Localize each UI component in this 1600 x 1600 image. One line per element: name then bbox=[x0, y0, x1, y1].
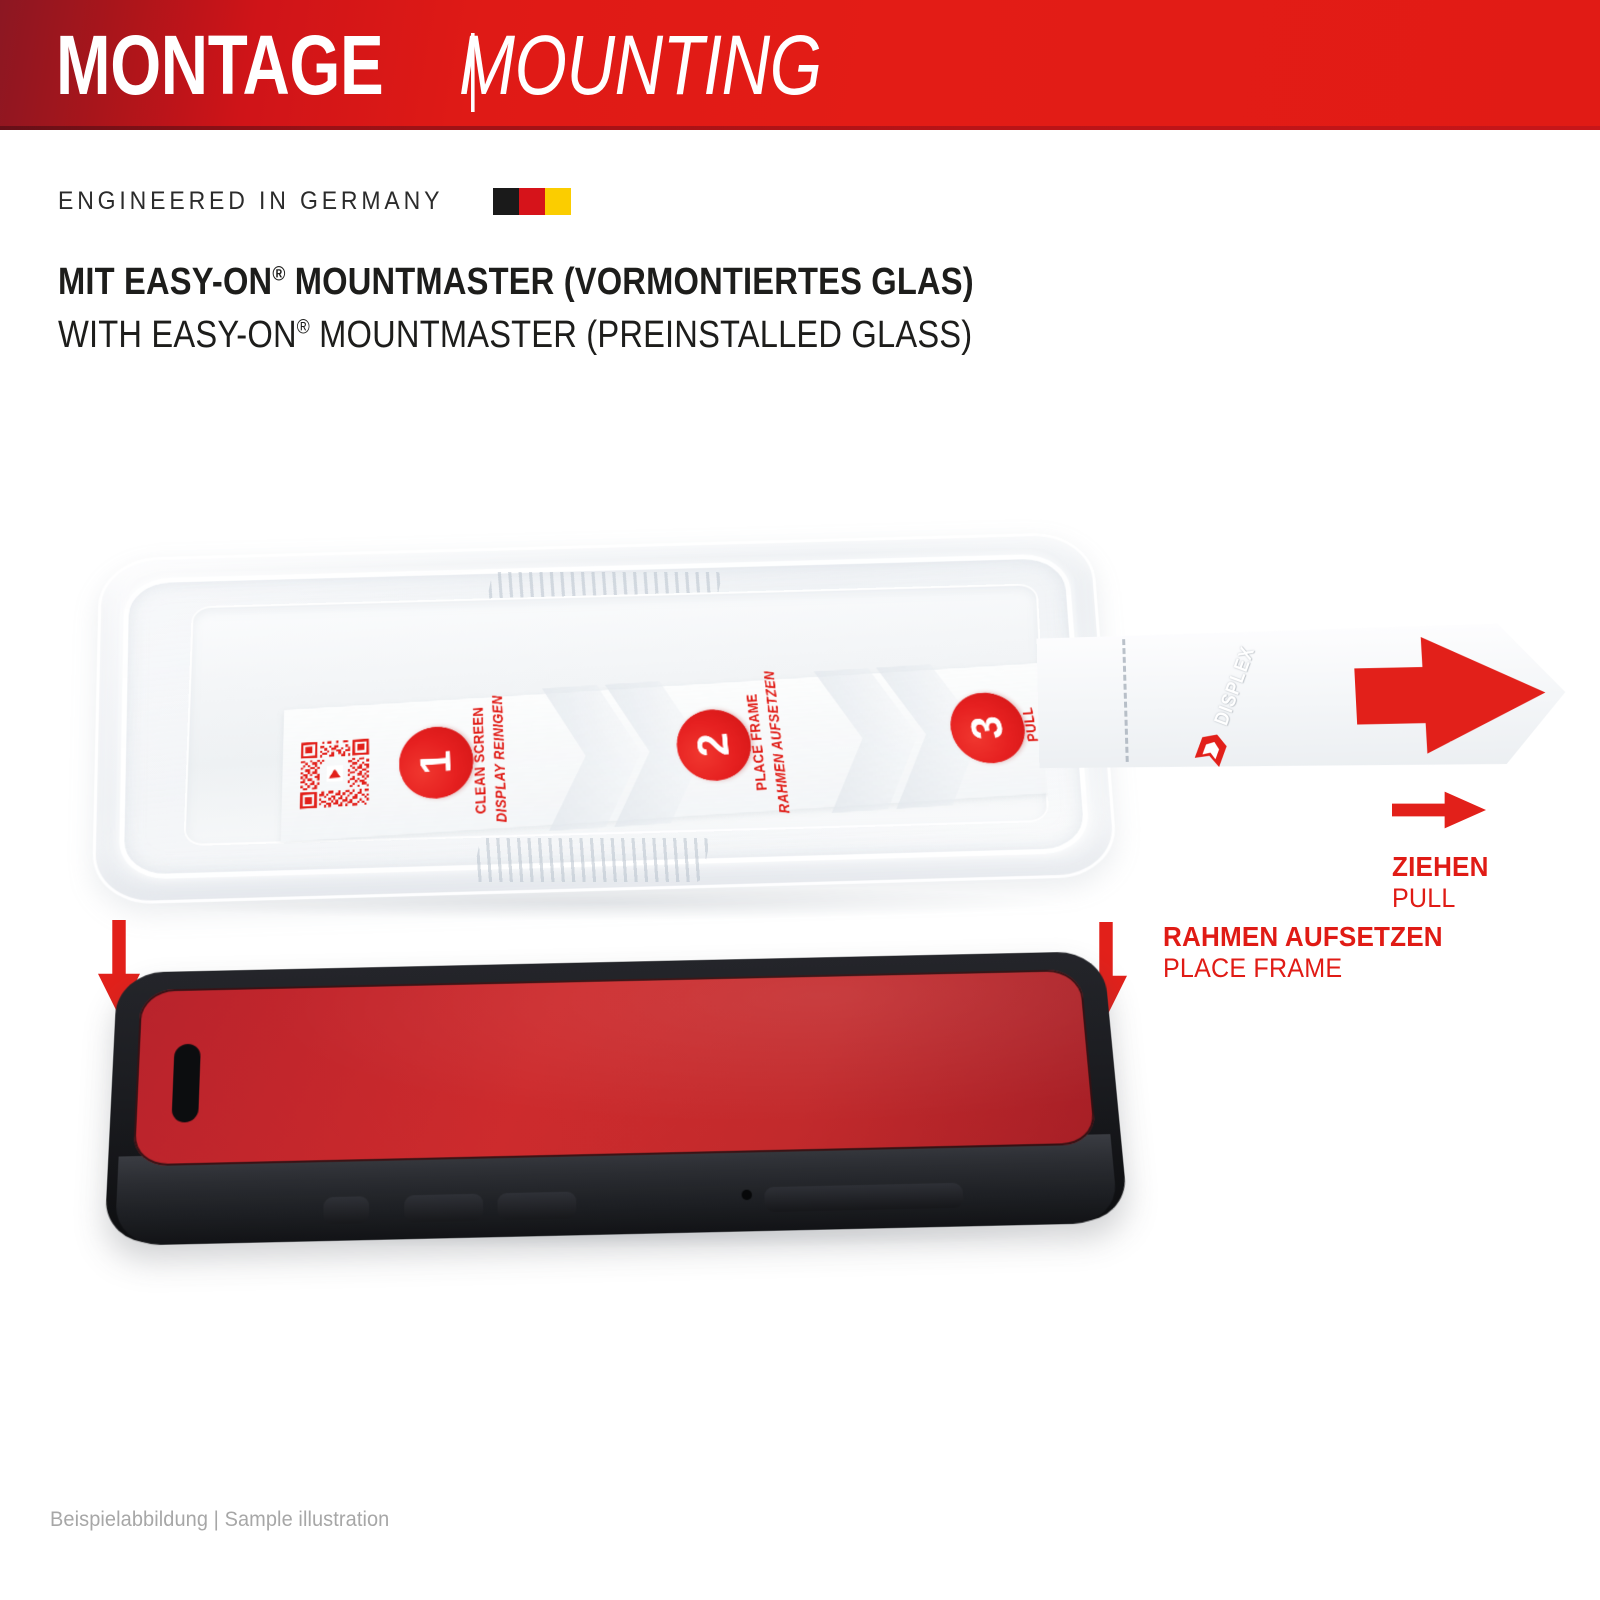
callout-pull-text: ZIEHEN PULL bbox=[1392, 850, 1496, 915]
callout-pull: ZIEHEN PULL bbox=[1392, 790, 1496, 915]
tray-glass-window: 1 CLEAN SCREEN DISPLAY REINIGEN 2 PLACE … bbox=[183, 583, 1049, 846]
qr-code-icon[interactable] bbox=[300, 739, 369, 809]
step-2-labels: PLACE FRAME RAHMEN AUFSETZEN bbox=[747, 731, 788, 753]
callout-place-frame-de: RAHMEN AUFSETZEN bbox=[1163, 920, 1443, 953]
tray-grip-texture-bottom bbox=[471, 838, 710, 882]
dynamic-island bbox=[171, 1044, 200, 1123]
arrow-right-icon bbox=[1392, 790, 1486, 830]
step-1: 1 CLEAN SCREEN DISPLAY REINIGEN bbox=[399, 723, 502, 801]
callout-place-frame-text: RAHMEN AUFSETZEN PLACE FRAME bbox=[1163, 920, 1464, 985]
callout-place-frame: RAHMEN AUFSETZEN PLACE FRAME bbox=[1085, 920, 1464, 1018]
callout-pull-en: PULL bbox=[1392, 883, 1489, 915]
volume-down-button bbox=[497, 1192, 576, 1221]
step-1-labels: CLEAN SCREEN DISPLAY REINIGEN bbox=[470, 748, 510, 770]
displex-wordmark: DISPLEX bbox=[1210, 643, 1260, 729]
callout-place-frame-en: PLACE FRAME bbox=[1163, 953, 1443, 985]
callout-pull-de: ZIEHEN bbox=[1392, 850, 1489, 883]
step-2: 2 PLACE FRAME RAHMEN AUFSETZEN bbox=[674, 706, 782, 783]
sample-illustration-note: Beispielabbildung | Sample illustration bbox=[50, 1508, 389, 1532]
microphone-hole bbox=[741, 1190, 752, 1201]
step-1-number: 1 bbox=[399, 725, 474, 801]
mounting-illustration: 1 CLEAN SCREEN DISPLAY REINIGEN 2 PLACE … bbox=[0, 0, 1600, 1600]
pull-tab[interactable]: DISPLEX bbox=[1037, 622, 1571, 773]
instruction-strip: 1 CLEAN SCREEN DISPLAY REINIGEN 2 PLACE … bbox=[281, 661, 1049, 843]
step-3: 3 PULL ZIEHEN bbox=[945, 689, 1049, 765]
step-2-number: 2 bbox=[674, 707, 754, 782]
power-button bbox=[764, 1183, 964, 1212]
smartphone bbox=[104, 951, 1129, 1244]
mute-switch bbox=[323, 1196, 369, 1224]
phone-screen bbox=[133, 969, 1097, 1166]
step-3-number: 3 bbox=[945, 691, 1030, 766]
volume-up-button bbox=[404, 1194, 483, 1223]
easy-on-applicator-tray: 1 CLEAN SCREEN DISPLAY REINIGEN 2 PLACE … bbox=[96, 540, 1106, 890]
